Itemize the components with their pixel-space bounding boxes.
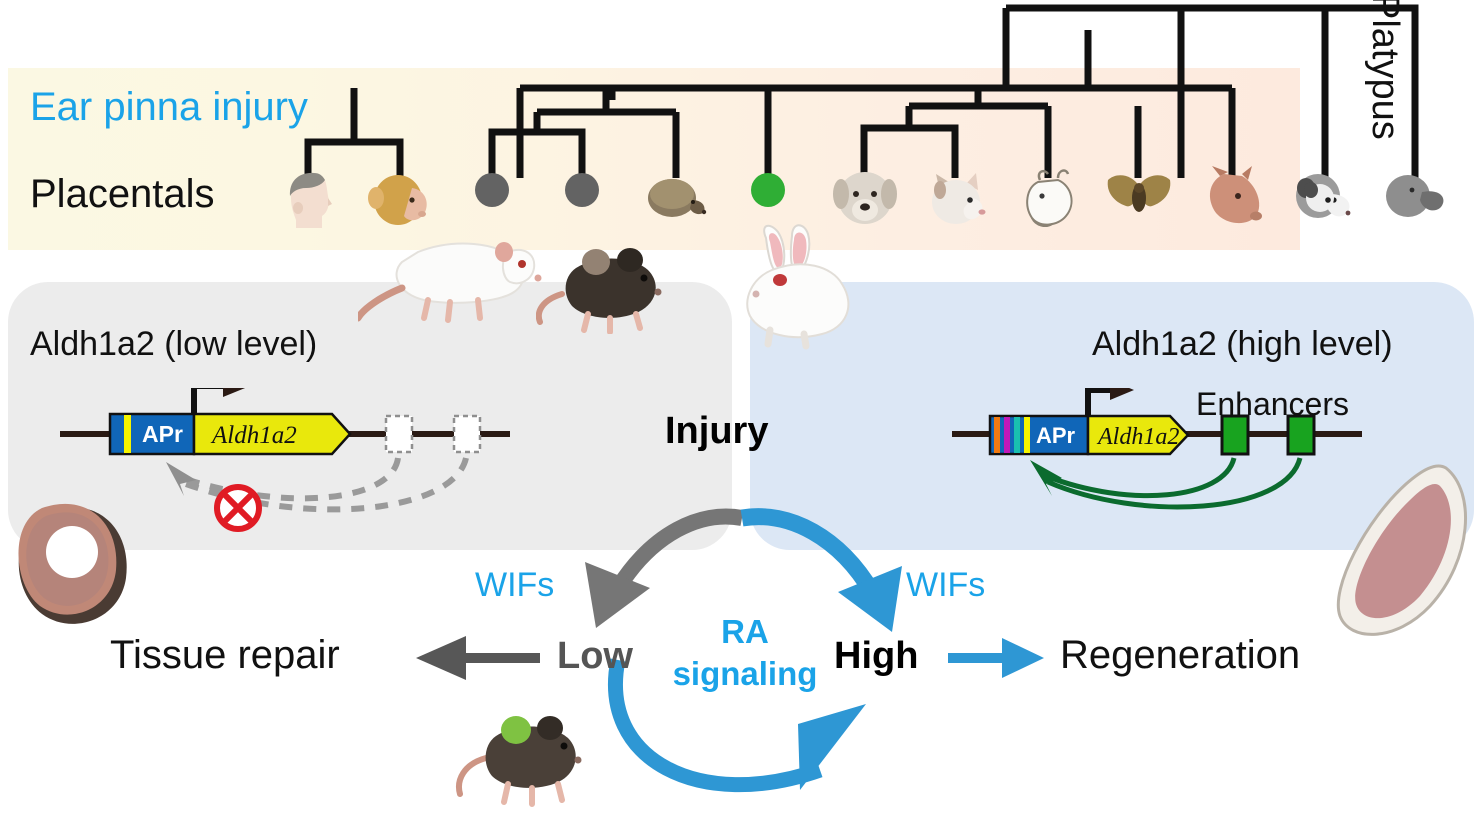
ra-label: RA (690, 613, 800, 651)
ra-high-label: High (834, 635, 918, 678)
green-ear-mouse-illustration (452, 708, 602, 812)
figure-root: Ear pinna injury Placentals Platypus Ald… (0, 0, 1482, 825)
wifs-right-label: WIFs (906, 566, 985, 605)
wifs-left-label: WIFs (475, 566, 554, 605)
green-ear-marker (501, 716, 531, 744)
ra-signaling-label: signaling (654, 655, 836, 693)
injury-label: Injury (665, 410, 768, 453)
gray-curved-arrow (618, 516, 742, 588)
tissue-repair-label: Tissue repair (110, 633, 340, 678)
ra-low-label: Low (557, 635, 633, 678)
blue-curved-arrow (742, 517, 872, 592)
regeneration-label: Regeneration (1060, 633, 1300, 678)
